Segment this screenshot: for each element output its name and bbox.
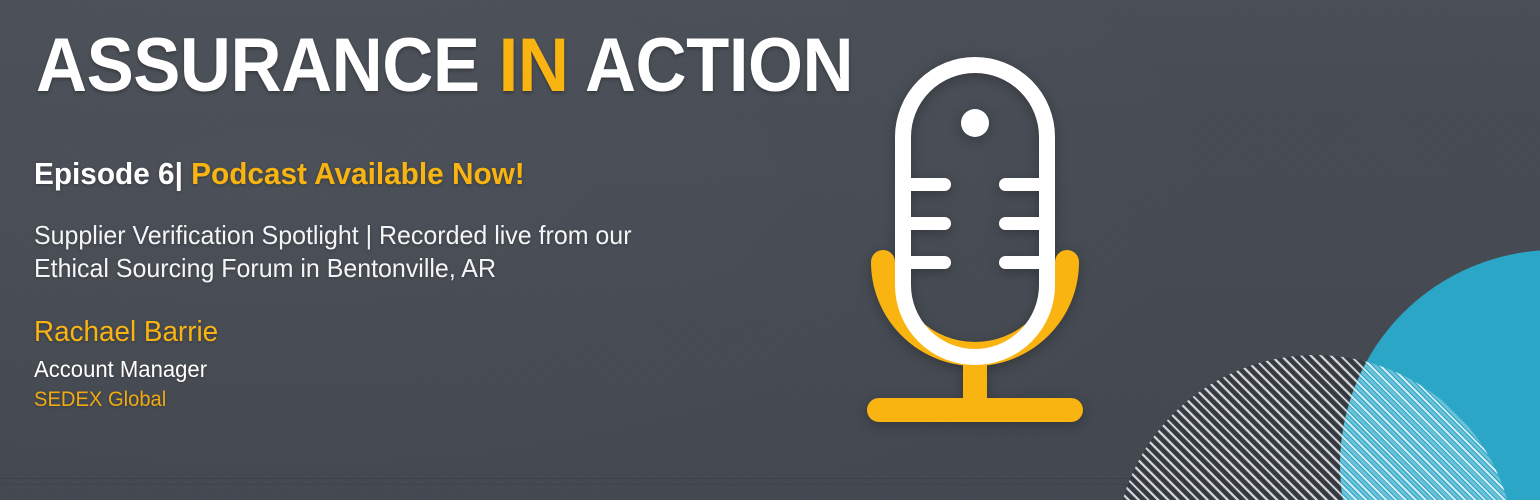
title-part-one: ASSURANCE	[36, 23, 499, 108]
hatched-circle-decoration	[1115, 355, 1515, 500]
speaker-role: Account Manager	[34, 356, 207, 383]
microphone-icon	[845, 55, 1105, 440]
decorative-circles-group	[1070, 200, 1540, 500]
podcast-availability-label: Podcast Available Now!	[183, 156, 525, 191]
title-accent-word: IN	[499, 23, 569, 108]
episode-summary: Supplier Verification Spotlight | Record…	[34, 219, 677, 285]
speaker-name: Rachael Barrie	[34, 316, 218, 349]
podcast-promo-banner: ASSURANCE IN ACTION Episode 6| Podcast A…	[0, 0, 1540, 500]
teal-circle-hatch-overlay	[1340, 250, 1540, 500]
banner-text-block: ASSURANCE IN ACTION Episode 6| Podcast A…	[34, 0, 794, 500]
speaker-organisation: SEDEX Global	[34, 387, 166, 412]
episode-number-label: Episode 6|	[34, 156, 183, 191]
banner-title: ASSURANCE IN ACTION	[36, 28, 853, 104]
title-part-two: ACTION	[568, 23, 853, 108]
episode-line: Episode 6| Podcast Available Now!	[34, 157, 525, 191]
teal-circle-decoration	[1340, 250, 1540, 500]
